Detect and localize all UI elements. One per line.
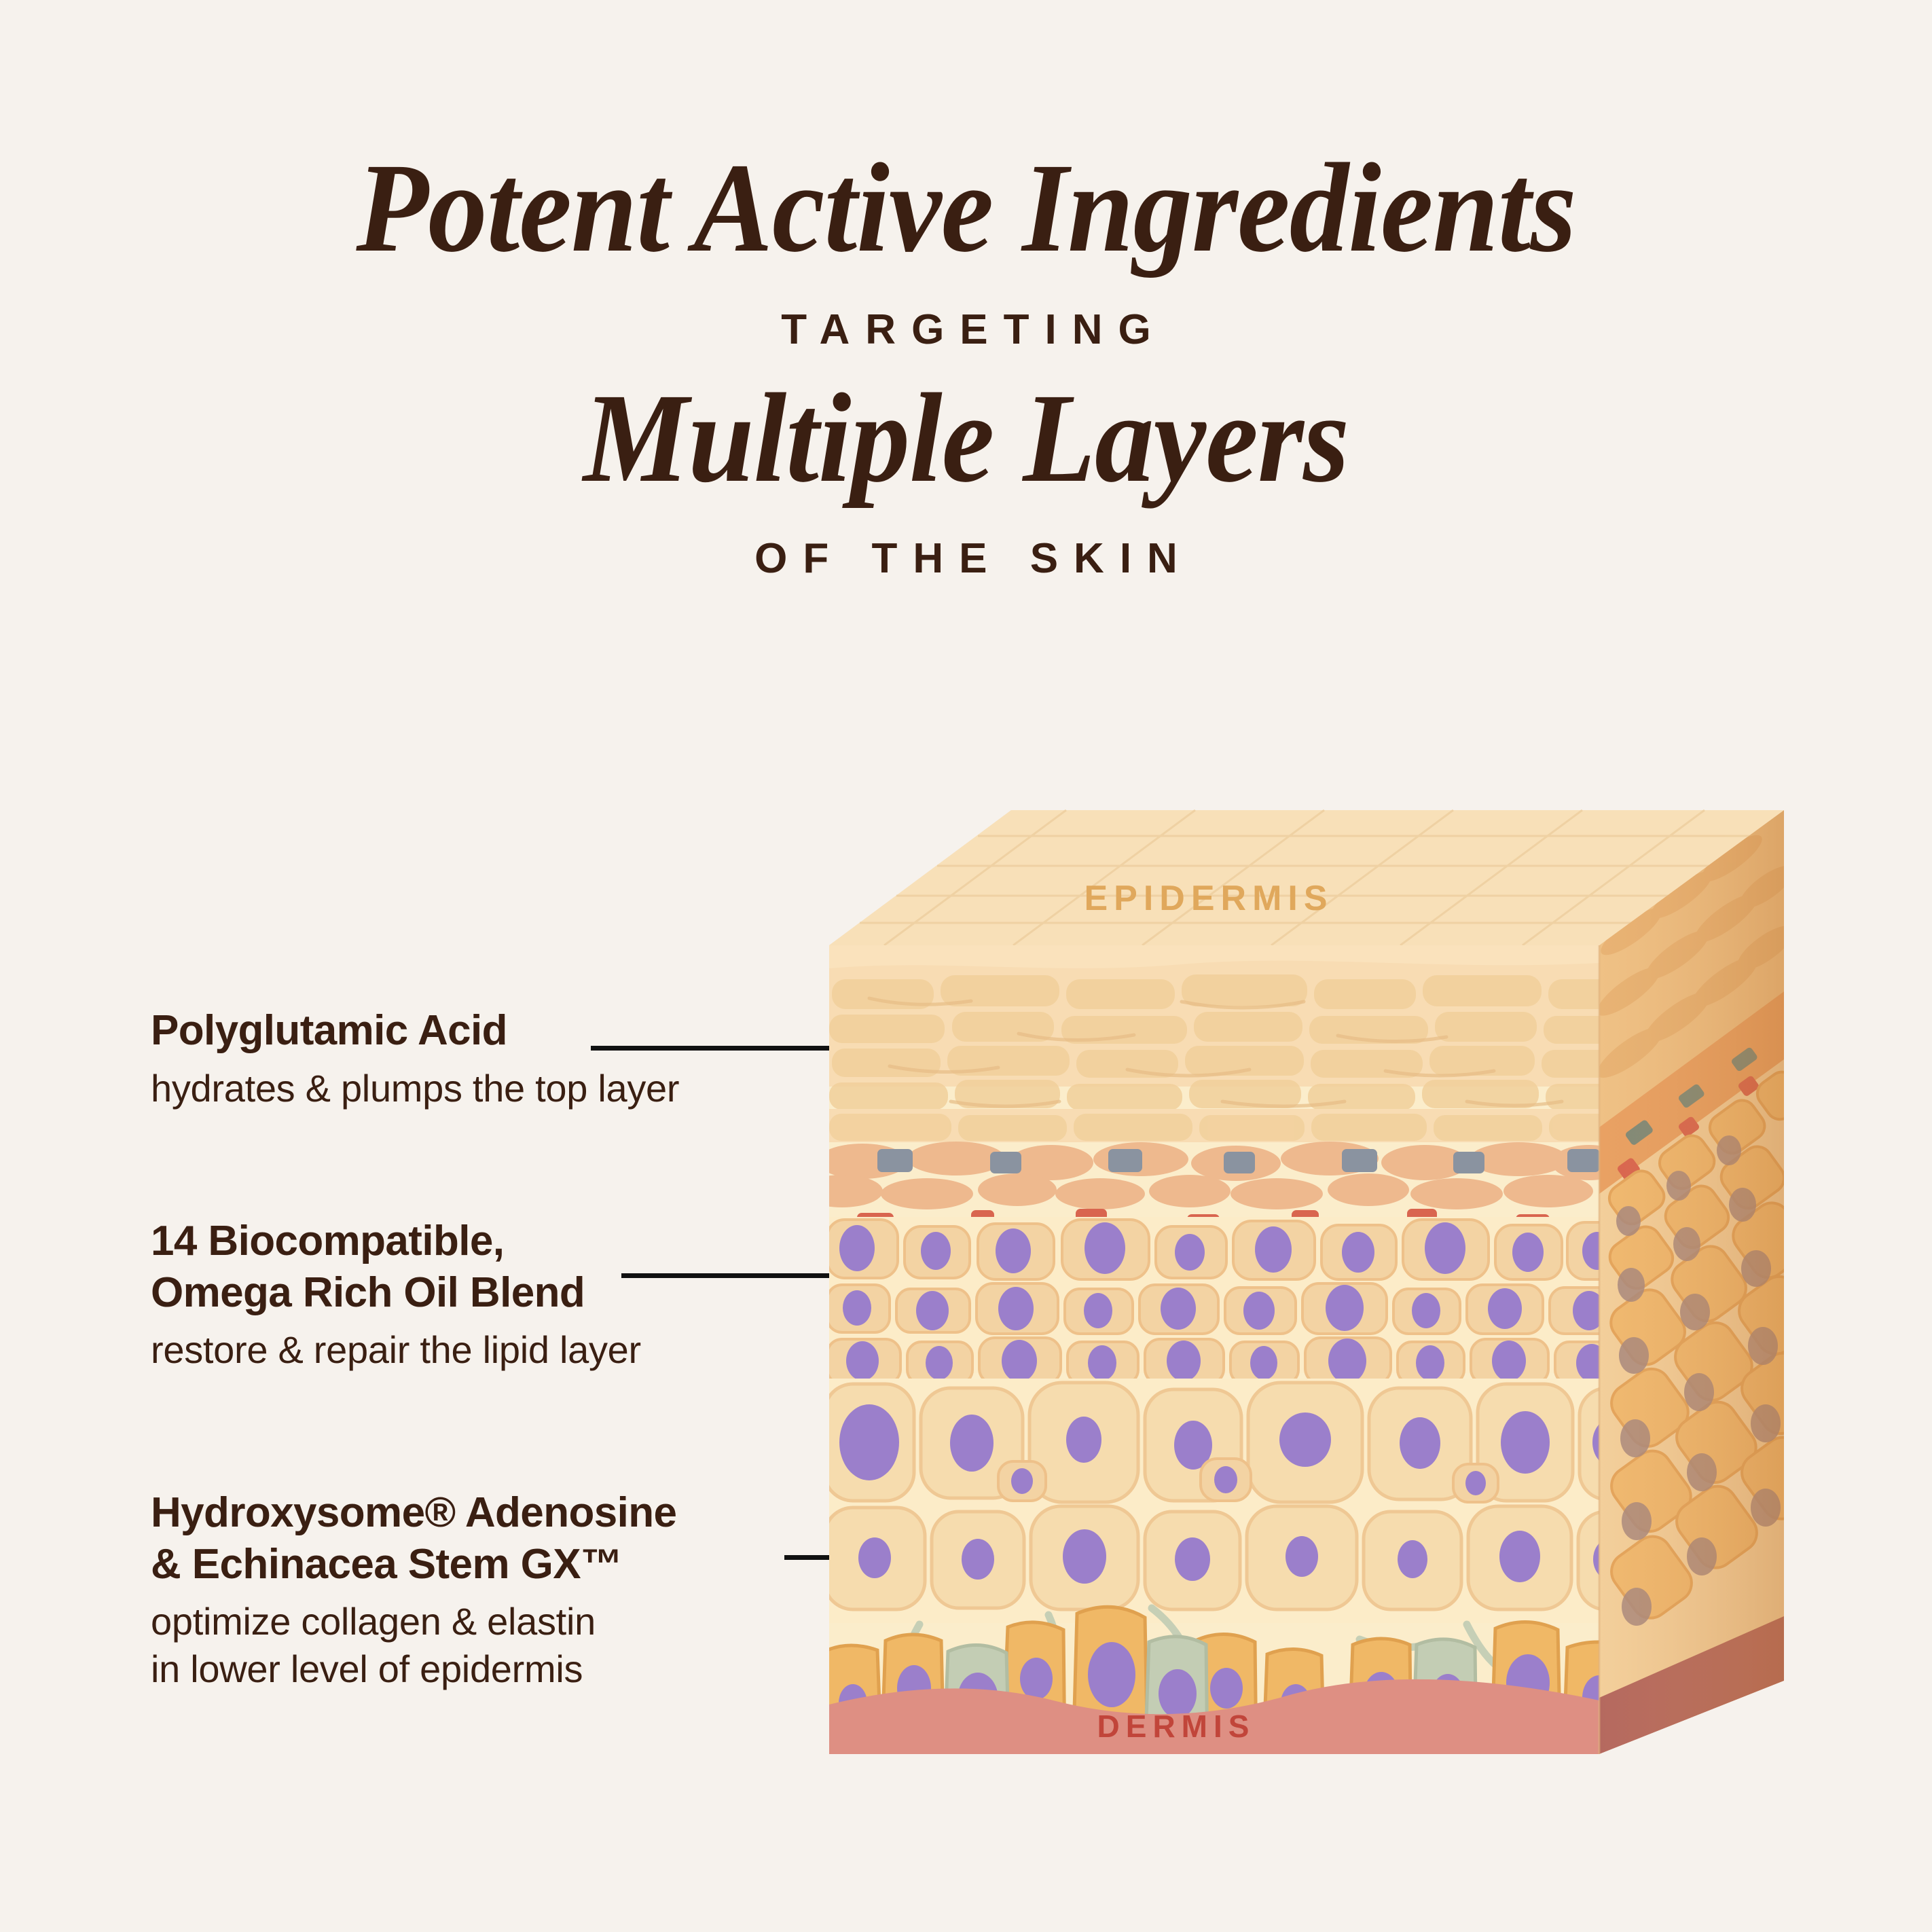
stratum-corneum bbox=[829, 945, 1633, 1144]
callout-subtitle: optimize collagen & elastin in lower lev… bbox=[151, 1598, 830, 1693]
callout-hydroxysome: Hydroxysome® Adenosine & Echinacea Stem … bbox=[151, 1487, 830, 1693]
stratum-spinosum-upper bbox=[827, 1217, 1630, 1384]
diagram-side-face bbox=[1590, 810, 1829, 1754]
infographic-canvas: Potent Active Ingredients TARGETING Mult… bbox=[0, 0, 1932, 1932]
callout-polyglutamic-acid: Polyglutamic Acid hydrates & plumps the … bbox=[151, 1005, 830, 1112]
epidermis-label: EPIDERMIS bbox=[1084, 879, 1333, 918]
callout-subtitle: hydrates & plumps the top layer bbox=[151, 1065, 830, 1112]
dermis-label: DERMIS bbox=[1097, 1709, 1256, 1744]
callout-title: Hydroxysome® Adenosine & Echinacea Stem … bbox=[151, 1487, 830, 1590]
callout-list: Polyglutamic Acid hydrates & plumps the … bbox=[0, 0, 849, 1932]
skin-cross-section-diagram: EPIDERMIS bbox=[774, 767, 1834, 1800]
callout-oil-blend: 14 Biocompatible, Omega Rich Oil Blend r… bbox=[151, 1216, 830, 1374]
callout-title: 14 Biocompatible, Omega Rich Oil Blend bbox=[151, 1216, 830, 1318]
callout-subtitle: restore & repair the lipid layer bbox=[151, 1326, 830, 1374]
diagram-front-face: DERMIS bbox=[801, 945, 1641, 1759]
